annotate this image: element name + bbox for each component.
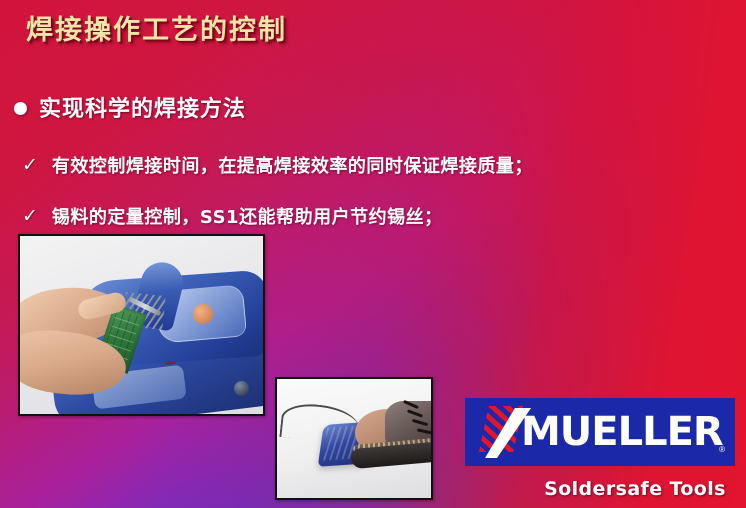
foot-pedal-photo xyxy=(275,377,433,500)
sub-bullet-label-1: 有效控制焊接时间，在提高焊接效率的同时保证焊接质量； xyxy=(52,152,533,178)
sub-bullet-row-1: ✓ 有效控制焊接时间，在提高焊接效率的同时保证焊接质量； xyxy=(22,152,533,178)
photo-1-canvas xyxy=(20,236,263,414)
mueller-wordmark: MUELLER xyxy=(521,408,723,456)
mueller-logo: MUELLER ® xyxy=(465,398,735,466)
sub-bullet-2-emphasis: SS1 xyxy=(200,207,239,228)
presentation-slide: 焊接操作工艺的控制 实现科学的焊接方法 ✓ 有效控制焊接时间，在提高焊接效率的同… xyxy=(0,0,746,508)
main-bullet-label: 实现科学的焊接方法 xyxy=(39,91,246,123)
logo-tagline: Soldersafe Tools xyxy=(525,478,745,500)
boot-laces-shape xyxy=(403,401,433,435)
registered-trademark-icon: ® xyxy=(719,445,725,454)
machine-knob-shape xyxy=(234,381,249,396)
solder-spool-shape xyxy=(193,304,213,324)
soldering-machine-photo xyxy=(18,234,265,416)
photo-2-canvas xyxy=(277,379,431,498)
sub-bullet-2-text-before: 锡料的定量控制， xyxy=(52,207,200,227)
main-bullet-row: 实现科学的焊接方法 xyxy=(14,91,246,123)
check-mark-icon: ✓ xyxy=(22,156,38,175)
check-mark-icon: ✓ xyxy=(22,207,38,226)
sub-bullet-label-2: 锡料的定量控制，SS1还能帮助用户节约锡丝； xyxy=(52,203,443,229)
filled-circle-bullet-icon xyxy=(14,102,27,115)
sub-bullet-2-text-after: 还能帮助用户节约锡丝； xyxy=(239,207,443,227)
slide-title: 焊接操作工艺的控制 xyxy=(26,8,287,47)
sub-bullet-row-2: ✓ 锡料的定量控制，SS1还能帮助用户节约锡丝； xyxy=(22,203,443,229)
